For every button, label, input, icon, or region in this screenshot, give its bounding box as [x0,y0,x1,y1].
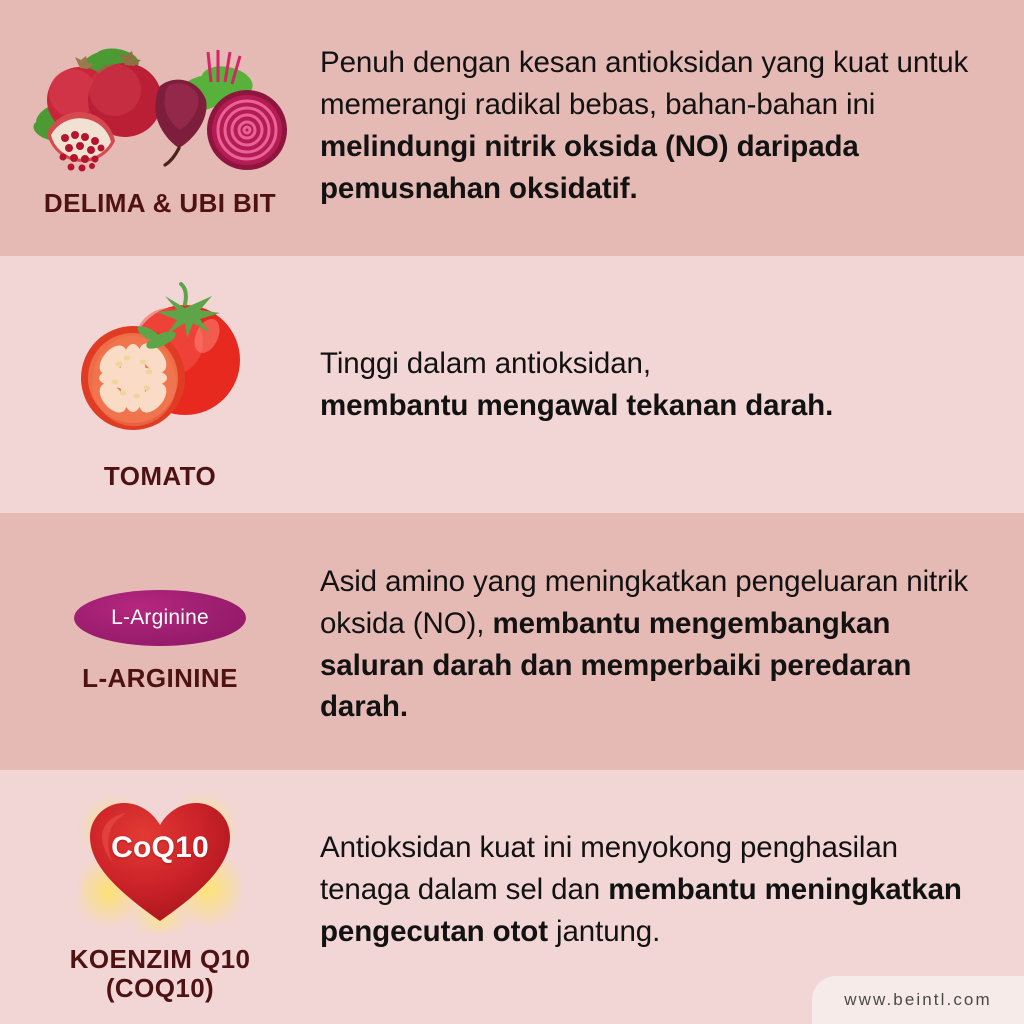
coq10-heart-icon: CoQ10 [80,791,240,931]
body-regular-2: Tinggi dalam antioksidan, [320,347,651,380]
l-arginine-pill-label-wrap: L-Arginine [74,590,246,646]
section-label-koenzim-q10-line1: KOENZIM Q10 [70,945,251,974]
tomato-icon [65,278,255,448]
section-label-koenzim-q10: KOENZIM Q10 (COQ10) [70,945,251,1003]
body-regular-4b: jantung. [548,915,660,948]
text-column-delima-ubi-bit: Penuh dengan kesan antioksidan yang kuat… [320,0,1024,256]
section-body-tomato: Tinggi dalam antioksidan, membantu menga… [320,343,990,427]
text-column-tomato: Tinggi dalam antioksidan, membantu menga… [320,256,1024,513]
section-label-delima-ubi-bit: DELIMA & UBI BIT [44,189,276,218]
section-delima-ubi-bit: DELIMA & UBI BIT Penuh dengan kesan anti… [0,0,1024,256]
infographic-root: DELIMA & UBI BIT Penuh dengan kesan anti… [0,0,1024,1024]
section-body-l-arginine: Asid amino yang meningkatkan pengeluaran… [320,561,990,729]
l-arginine-pill-icon: L-Arginine [74,590,246,646]
l-arginine-pill-text: L-Arginine [111,606,209,630]
section-label-l-arginine: L-ARGININE [82,664,238,693]
footer-website-plate: www.beintl.com [812,976,1024,1024]
section-label-tomato: TOMATO [104,462,216,491]
pomegranate-and-beetroot-icon [25,38,295,183]
body-bold-2: membantu mengawal tekanan darah. [320,389,833,422]
icon-column-delima-ubi-bit: DELIMA & UBI BIT [0,0,320,256]
coq10-heart-text: CoQ10 [80,831,240,865]
section-l-arginine: L-Arginine L-ARGININE Asid amino yang me… [0,513,1024,770]
icon-column-tomato: TOMATO [0,256,320,513]
body-bold-1: melindungi nitrik oksida (NO) daripada p… [320,130,859,205]
section-body-delima-ubi-bit: Penuh dengan kesan antioksidan yang kuat… [320,42,990,210]
text-column-l-arginine: Asid amino yang meningkatkan pengeluaran… [320,513,1024,770]
icon-column-l-arginine: L-Arginine L-ARGININE [0,513,320,770]
footer-website-text: www.beintl.com [844,990,992,1010]
body-regular-1: Penuh dengan kesan antioksidan yang kuat… [320,46,968,121]
section-label-koenzim-q10-line2: (COQ10) [70,974,251,1003]
icon-column-koenzim-q10: CoQ10 KOENZIM Q10 (COQ10) [0,770,320,1024]
section-body-koenzim-q10: Antioksidan kuat ini menyokong penghasil… [320,827,990,953]
section-tomato: TOMATO Tinggi dalam antioksidan, membant… [0,256,1024,513]
